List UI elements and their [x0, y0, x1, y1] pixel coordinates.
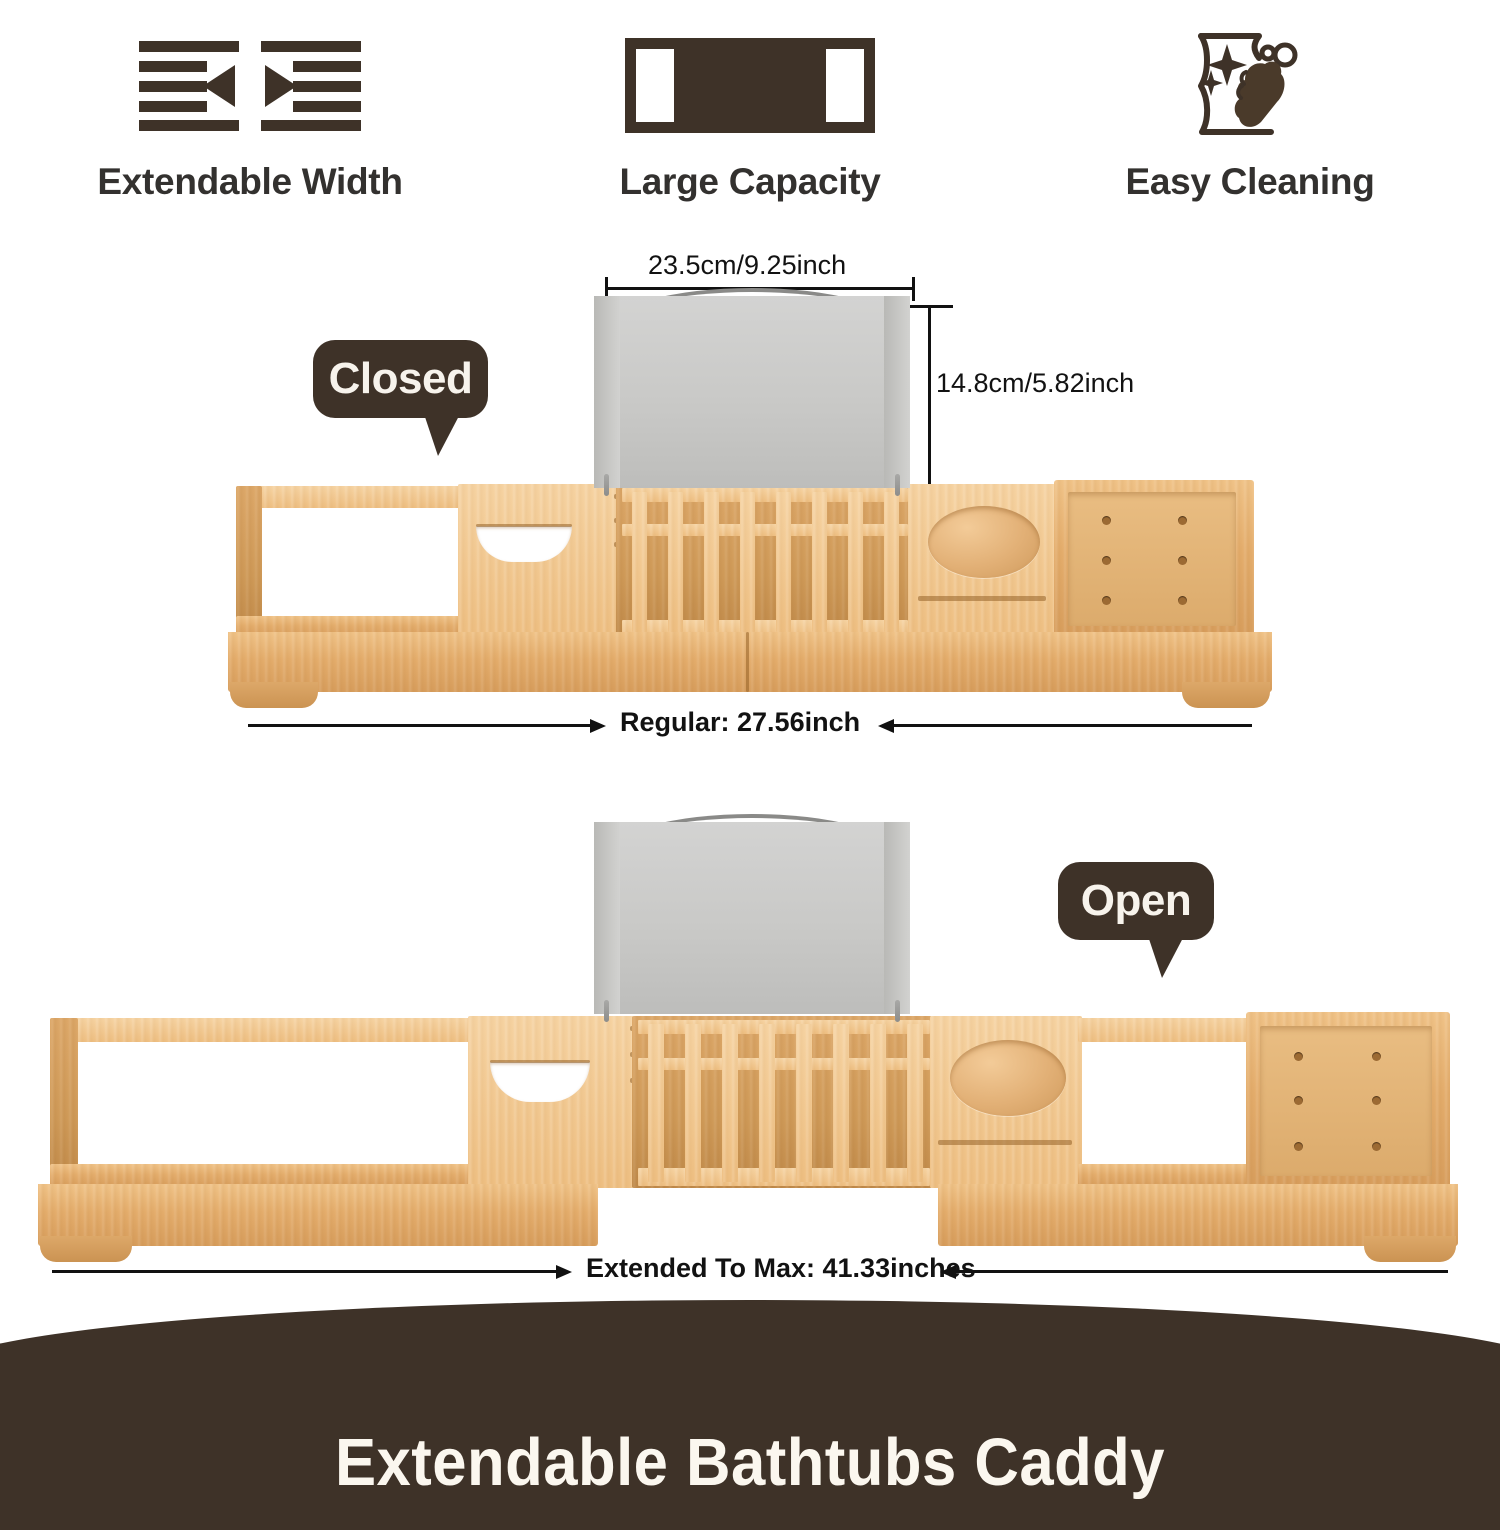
slat: [812, 492, 827, 632]
holder-height-label: 14.8cm/5.82inch: [936, 368, 1134, 399]
tablet-holder-open: [594, 822, 910, 1014]
slat: [648, 1024, 664, 1182]
badge-open-label: Open: [1081, 876, 1191, 926]
glass-slot-groove: [490, 1060, 590, 1063]
feature-label: Large Capacity: [619, 161, 880, 203]
badge-open: Open: [1058, 862, 1214, 940]
tray-hole: [1294, 1096, 1303, 1105]
holder-leg-left: [604, 1000, 609, 1022]
tray-hole: [1372, 1096, 1381, 1105]
slat-rail-top: [622, 488, 908, 502]
slat-rail-bottom: [638, 1168, 930, 1186]
holder-width-label: 23.5cm/9.25inch: [648, 250, 846, 281]
badge-closed-tail: [424, 414, 460, 456]
frame-top-left: [50, 1018, 510, 1042]
tray-hole: [1294, 1142, 1303, 1151]
slat: [833, 1024, 849, 1182]
slat-rail-mid: [638, 1058, 930, 1070]
badge-closed-label: Closed: [329, 354, 473, 404]
easy-cleaning-icon: [1175, 28, 1325, 143]
slat: [722, 1024, 738, 1182]
tray-hole: [1372, 1142, 1381, 1151]
tablet-holder-closed: [594, 296, 910, 488]
slat: [759, 1024, 775, 1182]
holder-fabric-panel: [594, 822, 910, 1014]
slat: [884, 492, 899, 632]
front-rail: [228, 632, 1272, 692]
slat: [870, 1024, 886, 1182]
measure-extended-label: Extended To Max: 41.33inches: [586, 1253, 976, 1284]
cup-panel-groove: [938, 1140, 1072, 1145]
holder-side-left: [594, 822, 620, 1014]
cup-panel-groove: [918, 596, 1046, 601]
holder-leg-left: [604, 474, 609, 496]
slat: [776, 492, 791, 632]
feature-label: Extendable Width: [97, 161, 402, 203]
cup-holder-recess: [950, 1040, 1066, 1116]
tray-hole: [1372, 1052, 1381, 1061]
slat: [685, 1024, 701, 1182]
feature-label: Easy Cleaning: [1125, 161, 1374, 203]
tray-hole: [1178, 516, 1187, 525]
badge-open-tail: [1148, 936, 1184, 978]
capacity-slot-right: [826, 49, 864, 122]
glass-slot-groove: [476, 524, 572, 527]
foot-right: [1182, 682, 1270, 708]
caddy-closed: [228, 470, 1272, 695]
slat-rail-top: [638, 1020, 930, 1034]
slat: [848, 492, 863, 632]
foot-right: [1364, 1236, 1456, 1262]
slat-rail-mid: [622, 524, 908, 536]
holder-leg-right: [895, 474, 900, 496]
slat: [668, 492, 683, 632]
slat: [632, 492, 647, 632]
feature-large-capacity: Large Capacity: [500, 28, 1000, 228]
frame-top-left: [236, 486, 486, 508]
slat-deck: [632, 1016, 932, 1188]
large-capacity-icon: [625, 28, 875, 143]
foot-left: [230, 682, 318, 708]
foot-left: [40, 1236, 132, 1262]
capacity-slot-left: [636, 49, 674, 122]
rail-seam: [746, 632, 749, 692]
tray-hole: [1102, 516, 1111, 525]
holder-side-right: [884, 822, 910, 1014]
badge-closed: Closed: [313, 340, 488, 418]
slat: [704, 492, 719, 632]
soap-tray-bed: [1260, 1026, 1432, 1176]
holder-leg-right: [895, 1000, 900, 1022]
panel-glass-holder: [468, 1016, 634, 1188]
slat: [907, 1024, 923, 1182]
slat: [796, 1024, 812, 1182]
tray-hole: [1178, 556, 1187, 565]
tray-hole: [1178, 596, 1187, 605]
tray-hole: [1294, 1052, 1303, 1061]
frame-edge-left: [236, 486, 262, 636]
feature-strip: Extendable Width Large Capacity: [0, 28, 1500, 228]
holder-fabric-panel: [594, 296, 910, 488]
frame-edge-left: [50, 1018, 78, 1186]
holder-side-left: [594, 296, 620, 488]
cup-holder-recess: [928, 506, 1040, 578]
tray-hole: [1102, 556, 1111, 565]
measure-regular-label: Regular: 27.56inch: [620, 707, 860, 738]
feature-easy-cleaning: Easy Cleaning: [1000, 28, 1500, 228]
feature-extendable-width: Extendable Width: [0, 28, 500, 228]
slat: [740, 492, 755, 632]
holder-side-right: [884, 296, 910, 488]
soap-tray-bed: [1068, 492, 1236, 626]
extendable-width-icon: [139, 28, 361, 143]
banner-title: Extendable Bathtubs Caddy: [60, 1424, 1440, 1501]
caddy-open: [38, 1000, 1458, 1248]
tray-hole: [1102, 596, 1111, 605]
slat-deck: [616, 484, 910, 638]
